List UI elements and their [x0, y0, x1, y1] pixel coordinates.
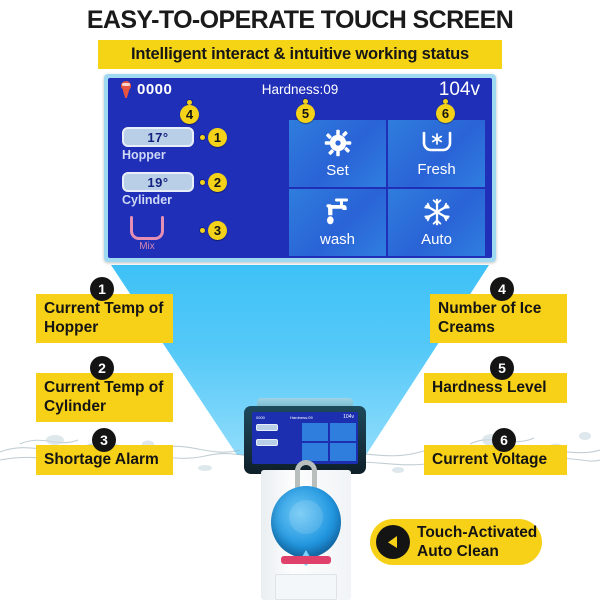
cylinder-widget[interactable]: 19° Cylinder [122, 172, 194, 207]
hopper-label: Hopper [122, 148, 194, 162]
screen-marker-1: 1 [208, 128, 227, 147]
callout-label-6: Current Voltage [424, 445, 567, 475]
screen-marker-6: 6 [436, 104, 455, 123]
touch-activated-line2: Auto Clean [417, 542, 537, 561]
screen-marker-2: 2 [208, 173, 227, 192]
callout-badge-6: 6 [492, 428, 516, 452]
screen-surface[interactable]: 0000 Hardness:09 104v 4 5 6 17° Hopper [108, 78, 492, 258]
page-title: EASY-TO-OPERATE TOUCH SCREEN [0, 6, 600, 35]
callout-badge-2: 2 [90, 356, 114, 380]
machine-drip-tray [281, 556, 331, 564]
status-bar: 0000 Hardness:09 104v [108, 81, 492, 103]
screen-button-grid: Set Fresh [289, 120, 485, 256]
marker-dot-3 [200, 228, 205, 233]
touch-activated-line1: Touch-Activated [417, 523, 537, 542]
callout-label-1: Current Temp of Hopper [36, 294, 173, 343]
callout-badge-5: 5 [490, 356, 514, 380]
machine-base [275, 574, 337, 600]
wash-button-label: wash [320, 231, 355, 248]
hopper-temp-box: 17° [122, 127, 194, 147]
mix-widget[interactable]: Mix [130, 220, 164, 252]
cylinder-label: Cylinder [122, 193, 194, 207]
wash-button[interactable]: wash [289, 189, 386, 256]
fresh-button-label: Fresh [417, 161, 455, 178]
play-left-arrow-icon [376, 525, 410, 559]
faucet-icon [322, 197, 354, 227]
snowflake-icon [422, 197, 452, 227]
set-button-label: Set [326, 162, 349, 179]
subtitle-banner: Intelligent interact & intuitive working… [98, 40, 502, 69]
machine-mini-screen[interactable]: 0000 Hardness:09 104v [252, 412, 358, 464]
callout-label-2: Current Temp of Cylinder [36, 373, 173, 422]
callout-badge-4: 4 [490, 277, 514, 301]
auto-button[interactable]: Auto [388, 189, 485, 256]
auto-button-label: Auto [421, 231, 452, 248]
machine-dispenser [271, 486, 341, 558]
infographic-root: EASY-TO-OPERATE TOUCH SCREEN Intelligent… [0, 0, 600, 600]
callout-badge-1: 1 [90, 277, 114, 301]
screen-marker-3: 3 [208, 221, 227, 240]
screen-marker-4: 4 [180, 105, 199, 124]
touch-screen-panel: 0000 Hardness:09 104v 4 5 6 17° Hopper [104, 74, 496, 262]
marker-dot-1 [200, 135, 205, 140]
mix-bowl-icon [130, 220, 164, 240]
hopper-widget[interactable]: 17° Hopper [122, 127, 194, 162]
hopper-temp-value: 17° [147, 130, 168, 145]
ice-cream-machine: 0000 Hardness:09 104v [243, 398, 369, 600]
fresh-button[interactable]: Fresh [388, 120, 485, 187]
bowl-snowflake-icon [420, 129, 454, 157]
hardness-readout: Hardness:09 [108, 82, 492, 97]
subtitle-text: Intelligent interact & intuitive working… [131, 45, 469, 64]
set-button[interactable]: Set [289, 120, 386, 187]
mix-label: Mix [130, 241, 164, 252]
cylinder-temp-box: 19° [122, 172, 194, 192]
voltage-readout: 104v [439, 79, 480, 101]
callout-label-4: Number of Ice Creams [430, 294, 567, 343]
marker-dot-2 [200, 180, 205, 185]
cylinder-temp-value: 19° [147, 175, 168, 190]
gear-icon [323, 128, 353, 158]
touch-activated-callout: Touch-Activated Auto Clean [370, 519, 542, 565]
callout-badge-3: 3 [92, 428, 116, 452]
screen-marker-5: 5 [296, 104, 315, 123]
